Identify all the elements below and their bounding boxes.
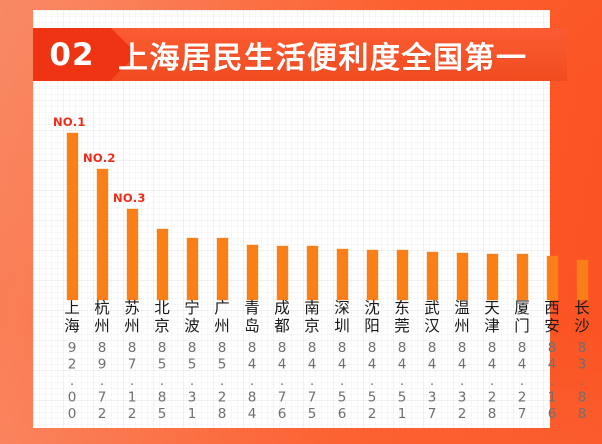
value-label: 83.88 [574,340,590,423]
city-label: 苏州 [124,300,140,335]
section-number-label: 02 [33,28,111,81]
axis-label-group: 长沙83.88 [567,300,597,414]
bar-column: 深圳84.56 [327,95,357,428]
axis-label-group: 武汉84.37 [417,300,447,414]
value-label: 89.72 [94,340,110,423]
bar [397,250,408,300]
value-label: 84.27 [514,340,530,423]
bar [307,246,318,300]
bar [247,245,258,300]
city-label: 成都 [274,300,290,335]
bar-column: 宁波85.31 [177,95,207,428]
value-label: 84.75 [304,340,320,423]
axis-label-group: 沈阳84.52 [357,300,387,414]
bar-column: 长沙83.88 [567,95,597,428]
city-label: 青岛 [244,300,260,335]
rank-label: NO.2 [83,151,116,165]
bar-column: 天津84.28 [477,95,507,428]
city-label: 厦门 [514,300,530,335]
axis-label-group: 青岛84.84 [237,300,267,414]
axis-label-group: 深圳84.56 [327,300,357,414]
value-label: 84.16 [544,340,560,423]
bar [127,209,138,300]
city-label: 杭州 [94,300,110,335]
bar-column: 武汉84.37 [417,95,447,428]
value-label: 84.84 [244,340,260,423]
axis-label-group: 厦门84.27 [507,300,537,414]
value-label: 84.51 [394,340,410,423]
bar [217,238,228,300]
page-title: 上海居民生活便利度全国第一 [118,28,528,81]
value-label: 87.12 [124,340,140,423]
axis-label-group: 南京84.75 [297,300,327,414]
bar [457,253,468,300]
city-label: 宁波 [184,300,200,335]
bar-column: NO.1上海92.00 [57,95,87,428]
rank-label: NO.3 [113,191,146,205]
bar [577,260,588,300]
value-label: 84.28 [484,340,500,423]
axis-label-group: 杭州89.72 [87,300,117,414]
city-label: 天津 [484,300,500,335]
city-label: 东莞 [394,300,410,335]
bar [97,169,108,300]
axis-label-group: 温州84.32 [447,300,477,414]
bar [187,238,198,300]
rank-label: NO.1 [53,115,86,129]
bar-chart: NO.1上海92.00NO.2杭州89.72NO.3苏州87.12北京85.85… [33,95,550,428]
bar-column: 北京85.85 [147,95,177,428]
axis-label-group: 西安84.16 [537,300,567,414]
bar [277,246,288,300]
bar-column: 成都84.76 [267,95,297,428]
bar-column: NO.2杭州89.72 [87,95,117,428]
value-label: 84.52 [364,340,380,423]
city-label: 北京 [154,300,170,335]
city-label: 上海 [64,300,80,335]
bar-column: 东莞84.51 [387,95,417,428]
value-label: 92.00 [64,340,80,423]
value-label: 84.32 [454,340,470,423]
bar [487,254,498,300]
bar-column: 厦门84.27 [507,95,537,428]
bar-chart-columns: NO.1上海92.00NO.2杭州89.72NO.3苏州87.12北京85.85… [33,95,550,428]
city-label: 长沙 [574,300,590,335]
bar-column: 广州85.28 [207,95,237,428]
city-label: 武汉 [424,300,440,335]
bar-column: 南京84.75 [297,95,327,428]
bar-column: NO.3苏州87.12 [117,95,147,428]
bar-column: 沈阳84.52 [357,95,387,428]
bar-column: 西安84.16 [537,95,567,428]
bar-column: 温州84.32 [447,95,477,428]
bar [67,133,78,300]
bar-column: 青岛84.84 [237,95,267,428]
value-label: 84.56 [334,340,350,423]
bar [367,250,378,300]
axis-label-group: 成都84.76 [267,300,297,414]
city-label: 南京 [304,300,320,335]
axis-label-group: 天津84.28 [477,300,507,414]
axis-label-group: 广州85.28 [207,300,237,414]
city-label: 西安 [544,300,560,335]
value-label: 84.76 [274,340,290,423]
axis-label-group: 上海92.00 [57,300,87,414]
city-label: 温州 [454,300,470,335]
bar [427,252,438,300]
value-label: 85.85 [154,340,170,423]
bar [547,256,558,300]
value-label: 85.31 [184,340,200,423]
city-label: 沈阳 [364,300,380,335]
screenshot-root: 02 上海居民生活便利度全国第一 NO.1上海92.00NO.2杭州89.72N… [0,0,602,444]
bar [517,254,528,300]
city-label: 广州 [214,300,230,335]
axis-label-group: 北京85.85 [147,300,177,414]
bar [337,249,348,300]
value-label: 84.37 [424,340,440,423]
axis-label-group: 宁波85.31 [177,300,207,414]
bar [157,229,168,300]
axis-label-group: 东莞84.51 [387,300,417,414]
axis-label-group: 苏州87.12 [117,300,147,414]
value-label: 85.28 [214,340,230,423]
city-label: 深圳 [334,300,350,335]
